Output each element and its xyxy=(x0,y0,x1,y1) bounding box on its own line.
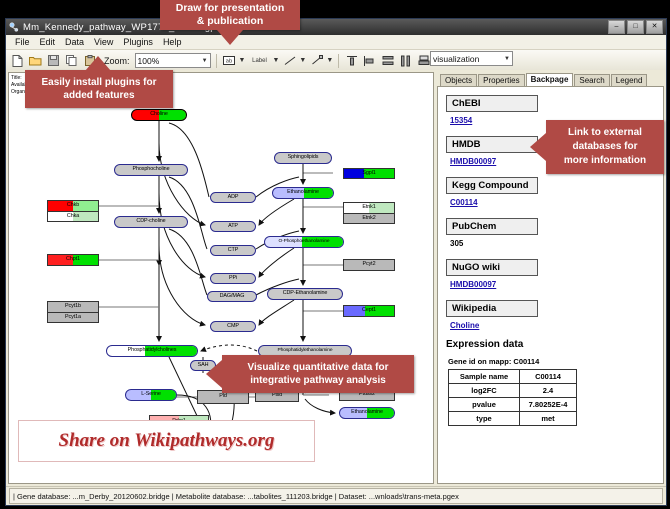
db-link-kegg-compound[interactable]: C00114 xyxy=(450,198,655,207)
align-left-icon[interactable] xyxy=(362,53,377,68)
menu-item-help[interactable]: Help xyxy=(158,37,187,47)
expr-value: C00114 xyxy=(520,370,577,384)
expr-value: 2.4 xyxy=(520,384,577,398)
node-pcyt1a[interactable]: Pcyt1a xyxy=(47,312,99,323)
callout-line-1: Visualize quantitative data for xyxy=(248,361,389,374)
node-ethanolamine-bottom[interactable]: Ethanolamine xyxy=(339,407,395,419)
status-bar-text: | Gene database: ...m_Derby_20120602.bri… xyxy=(9,488,663,504)
datanode-dropdown-icon[interactable]: ▼ xyxy=(239,57,246,64)
table-row: log2FC 2.4 xyxy=(449,384,577,398)
table-row: Sample name C00114 xyxy=(449,370,577,384)
node-label: Ptdss2 xyxy=(359,392,375,397)
node-label: Chpt1 xyxy=(66,257,80,262)
expression-table: Sample name C00114 log2FC 2.4 pvalue 7.8… xyxy=(448,369,577,426)
pathvisio-icon xyxy=(9,22,19,32)
menu-item-plugins[interactable]: Plugins xyxy=(118,37,158,47)
callout-arrow-left-visualize xyxy=(206,360,222,388)
node-label: Ethanolamine xyxy=(351,410,383,415)
node-label: O-Phosphoethanolamine xyxy=(279,240,330,245)
node-label: Pcyt2 xyxy=(363,262,376,267)
db-header-hmdb: HMDB xyxy=(446,136,538,153)
toolbar-separator xyxy=(216,54,217,68)
distribute-horizontal-icon[interactable] xyxy=(398,53,413,68)
callout-share-on-wikipathways: Share on Wikipathways.org xyxy=(18,420,315,462)
node-half-left xyxy=(344,169,364,178)
copy-icon[interactable] xyxy=(64,53,79,68)
node-etnk2[interactable]: Etnk2 xyxy=(343,213,395,224)
save-icon[interactable] xyxy=(46,53,61,68)
callout-arrow-down xyxy=(217,30,243,45)
chevron-down-icon: ▼ xyxy=(198,58,208,64)
callout-arrow-up xyxy=(85,56,111,71)
table-row: type met xyxy=(449,412,577,426)
node-label: Sphingolipids xyxy=(288,155,319,160)
node-label: Phosphocholine xyxy=(133,167,170,172)
expr-key: log2FC xyxy=(449,384,520,398)
expr-value: met xyxy=(520,412,577,426)
db-header-pubchem: PubChem xyxy=(446,218,538,235)
side-pane-tabs: Objects Properties Backpage Search Legen… xyxy=(437,72,664,87)
node-label: Chka xyxy=(67,214,79,219)
node-phosphocholine[interactable]: Phosphocholine xyxy=(114,164,188,176)
node-sphingolipids[interactable]: Sphingolipids xyxy=(274,152,332,164)
node-choline-top[interactable]: Choline xyxy=(131,109,187,121)
datanode-icon[interactable]: ab xyxy=(222,53,237,68)
tab-properties[interactable]: Properties xyxy=(478,74,524,86)
node-o-phosphoethanolamine[interactable]: O-Phosphoethanolamine xyxy=(264,236,344,248)
zoom-value: 100% xyxy=(138,56,160,66)
node-label: Phosphatidylethanolamine xyxy=(278,349,333,354)
callout-line-2: databases for xyxy=(572,140,637,154)
visualization-combo[interactable]: visualization ▼ xyxy=(430,51,513,66)
node-label: PPi xyxy=(229,276,237,281)
distribute-vertical-icon[interactable] xyxy=(380,53,395,68)
toolbar-separator-2 xyxy=(338,54,339,68)
expr-key: type xyxy=(449,412,520,426)
db-header-nugo-wiki: NuGO wiki xyxy=(446,259,538,276)
node-ethanolamine-top[interactable]: Ethanolamine xyxy=(272,187,334,199)
menu-item-file[interactable]: File xyxy=(10,37,35,47)
node-chpt1[interactable]: Chpt1 xyxy=(47,254,99,266)
expr-value: 7.80252E-4 xyxy=(520,398,577,412)
db-value-pubchem: 305 xyxy=(450,239,655,248)
expr-key: pvalue xyxy=(449,398,520,412)
new-file-icon[interactable] xyxy=(10,53,25,68)
title-bar: Mm_Kennedy_pathway_WP1771_45176.gpml – □… xyxy=(6,19,666,35)
share-text: Share on Wikipathways.org xyxy=(59,430,275,452)
tab-backpage[interactable]: Backpage xyxy=(526,73,574,86)
node-label: Sgpl1 xyxy=(362,171,375,176)
node-label: Phosphatidylcholines xyxy=(128,348,177,353)
menu-item-data[interactable]: Data xyxy=(60,37,89,47)
node-label: L-Serine xyxy=(141,392,161,397)
node-l-serine-left[interactable]: L-Serine xyxy=(125,389,177,401)
tab-objects[interactable]: Objects xyxy=(440,74,477,86)
gene-id-on-mapp: Gene id on mapp: C00114 xyxy=(448,357,655,366)
db-link-wikipedia[interactable]: Choline xyxy=(450,321,655,330)
node-phosphatidylcholines[interactable]: Phosphatidylcholines xyxy=(106,345,198,357)
callout-line-1: Easily install plugins for xyxy=(41,76,156,89)
node-ctp[interactable]: CTP xyxy=(210,245,256,256)
db-header-chebi: ChEBI xyxy=(446,95,538,112)
menu-item-view[interactable]: View xyxy=(89,37,118,47)
callout-easily-install-plugins: Easily install plugins for added feature… xyxy=(25,70,173,108)
node-cmp[interactable]: CMP xyxy=(210,321,256,332)
visualization-value: visualization xyxy=(433,54,479,64)
expression-data-title: Expression data xyxy=(446,339,655,350)
table-row: pvalue 7.80252E-4 xyxy=(449,398,577,412)
node-label: CMP xyxy=(227,324,239,329)
db-link-nugo-wiki[interactable]: HMDB00097 xyxy=(450,280,655,289)
node-label: Pcyt1a xyxy=(65,315,81,320)
callout-draw-for-presentation: Draw for presentation & publication xyxy=(160,0,300,30)
close-button[interactable]: ✕ xyxy=(646,20,663,34)
callout-visualize-quantitative-data: Visualize quantitative data for integrat… xyxy=(222,355,414,393)
node-label: Etnk1 xyxy=(362,205,375,210)
callout-line-3: more information xyxy=(564,154,646,168)
node-cept1[interactable]: Cept1 xyxy=(343,305,395,317)
minimize-button[interactable]: – xyxy=(608,20,625,34)
node-chka[interactable]: Chka xyxy=(47,211,99,222)
node-label: ATP xyxy=(228,224,238,229)
callout-line-2: & publication xyxy=(197,15,264,28)
node-adp[interactable]: ADP xyxy=(210,192,256,203)
node-etnk1[interactable]: Etnk1 xyxy=(343,202,395,213)
node-label: Chkb xyxy=(67,203,79,208)
db-header-kegg-compound: Kegg Compound xyxy=(446,177,538,194)
callout-line-1: Draw for presentation xyxy=(176,2,285,15)
screenshot-root: Mm_Kennedy_pathway_WP1771_45176.gpml – □… xyxy=(0,0,670,509)
node-label: Pisd xyxy=(272,393,282,398)
expr-key: Sample name xyxy=(449,370,520,384)
node-label: Etnk2 xyxy=(362,216,375,221)
node-chkb[interactable]: Chkb xyxy=(47,200,99,211)
db-header-wikipedia: Wikipedia xyxy=(446,300,538,317)
tab-search[interactable]: Search xyxy=(574,74,609,86)
window-controls: – □ ✕ xyxy=(608,20,663,34)
node-label: CDP-choline xyxy=(136,219,165,224)
node-label: CDP-Ethanolamine xyxy=(283,291,328,296)
tab-legend[interactable]: Legend xyxy=(611,74,648,86)
align-top-icon[interactable] xyxy=(344,53,359,68)
chevron-down-icon: ▼ xyxy=(500,56,510,62)
node-pcyt1b[interactable]: Pcyt1b xyxy=(47,301,99,312)
callout-line-2: added features xyxy=(63,89,134,102)
node-label: Choline xyxy=(150,112,168,117)
menu-item-edit[interactable]: Edit xyxy=(35,37,61,47)
line-icon[interactable] xyxy=(282,53,297,68)
node-atp[interactable]: ATP xyxy=(210,221,256,232)
node-cdp-ethanolamine[interactable]: CDP-Ethanolamine xyxy=(267,288,343,300)
maximize-button[interactable]: □ xyxy=(627,20,644,34)
open-folder-icon[interactable] xyxy=(28,53,43,68)
label-tool[interactable]: Label xyxy=(248,53,270,68)
callout-arrow-left-db xyxy=(530,133,546,161)
callout-line-1: Link to external xyxy=(568,126,642,140)
node-ppi[interactable]: PPi xyxy=(210,273,256,284)
label-dropdown-icon[interactable]: ▼ xyxy=(272,57,279,64)
callout-line-2: integrative pathway analysis xyxy=(250,374,386,387)
svg-text:ab: ab xyxy=(226,59,233,65)
interaction-dropdown-icon[interactable]: ▼ xyxy=(326,57,333,64)
node-label: Ethanolamine xyxy=(287,190,319,195)
node-label: Cept1 xyxy=(362,308,376,313)
interaction-icon[interactable] xyxy=(309,53,324,68)
node-label: DAG/MAG xyxy=(220,294,245,299)
node-label: CTP xyxy=(228,248,238,253)
node-pcyt2[interactable]: Pcyt2 xyxy=(343,259,395,271)
line-dropdown-icon[interactable]: ▼ xyxy=(299,57,306,64)
node-cdp-choline[interactable]: CDP-choline xyxy=(114,216,188,228)
callout-link-to-external-databases: Link to external databases for more info… xyxy=(546,120,664,174)
node-dagmag[interactable]: DAG/MAG xyxy=(207,291,257,302)
node-label: Pcyt1b xyxy=(65,304,81,309)
status-bar: | Gene database: ...m_Derby_20120602.bri… xyxy=(6,486,666,505)
node-label: Pld xyxy=(219,394,227,399)
node-label: ADP xyxy=(228,195,239,200)
node-sgpl1[interactable]: Sgpl1 xyxy=(343,168,395,179)
zoom-combo[interactable]: 100% ▼ xyxy=(135,53,211,68)
menu-bar: File Edit Data View Plugins Help xyxy=(6,35,666,50)
